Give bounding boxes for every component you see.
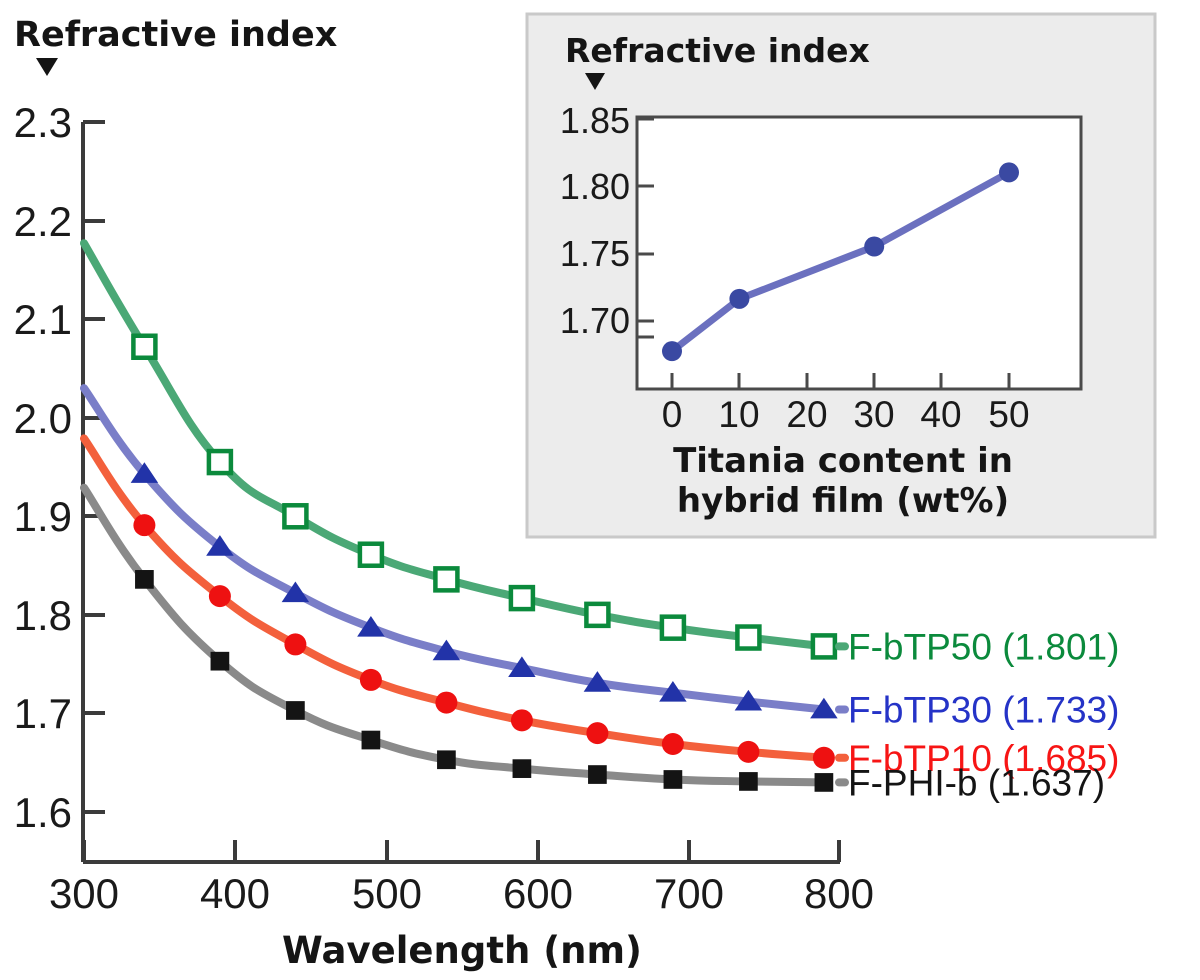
data-point-marker [813,747,835,769]
legend-item[interactable]: F-bTP30 (1.733) [839,689,1119,730]
data-point-marker [209,451,231,473]
legend-label: F-bTP50 (1.801) [848,626,1119,667]
inset-data-point-marker [729,289,749,309]
data-point-marker [586,722,608,744]
data-point-marker [133,336,155,358]
main-x-tick-label: 700 [654,870,724,917]
data-point-marker [739,772,758,791]
data-point-marker [284,505,306,527]
legend-item[interactable]: F-bTP50 (1.801) [839,626,1119,667]
down-triangle-axis-marker [36,58,58,76]
data-point-marker [211,652,230,671]
data-point-marker [511,587,533,609]
inset-x-axis-title-line2: hybrid film (wt%) [677,481,1009,521]
main-y-tick-label: 1.7 [14,690,72,737]
main-y-tick-label: 2.2 [14,198,72,245]
figure-root: Refractive index 2.3 2.2 2.1 [0,0,1200,980]
main-y-tick-label: 2.0 [14,395,72,442]
legend-label: F-bTP30 (1.733) [848,689,1119,730]
data-point-marker [737,627,759,649]
main-x-tick-label: 300 [49,870,119,917]
data-point-marker [209,585,231,607]
legend-label: F-PHI-b (1.637) [848,762,1105,803]
data-point-marker [135,570,154,589]
data-point-marker [360,669,382,691]
data-point-marker [133,514,155,536]
main-x-tick-label: 800 [804,870,874,917]
data-point-marker [662,733,684,755]
data-point-marker [588,765,607,784]
data-point-marker [511,709,533,731]
data-point-marker [286,701,305,720]
main-y-tick-label: 2.1 [14,296,72,343]
data-point-marker [664,770,683,789]
inset-data-point-marker [662,341,682,361]
data-point-marker [360,544,382,566]
inset-y-tick-label: 1.75 [560,233,630,274]
inset-x-tick-label: 0 [662,394,683,435]
inset-panel: Refractive index 1.85 1.80 1.75 1.70 [527,14,1155,537]
main-y-axis-title: Refractive index [14,15,338,55]
main-y-tick-labels: 2.3 2.2 2.1 2.0 1.9 1.8 1.7 1.6 [14,99,72,836]
inset-x-tick-label: 50 [988,394,1029,435]
inset-data-point-marker [999,162,1019,182]
main-x-tick-labels: 300 400 500 600 700 800 [49,870,874,917]
inset-y-tick-label: 1.70 [560,300,630,341]
main-y-tick-label: 1.8 [14,592,72,639]
inset-y-tick-label: 1.85 [560,100,630,141]
inset-y-axis-title: Refractive index [565,31,870,70]
data-point-marker [586,604,608,626]
data-point-marker [362,731,381,750]
inset-x-tick-label: 30 [853,394,894,435]
data-point-marker [435,568,457,590]
inset-x-tick-label: 10 [718,394,759,435]
data-point-marker [662,617,684,639]
data-point-marker [813,635,835,657]
main-x-axis-title: Wavelength (nm) [282,929,642,972]
chart-canvas: Refractive index 2.3 2.2 2.1 [0,0,1200,980]
inset-data-point-marker [864,237,884,257]
inset-y-tick-label: 1.80 [560,166,630,207]
main-y-tick-label: 2.3 [14,99,72,146]
data-point-marker [737,741,759,763]
main-x-tick-label: 400 [200,870,270,917]
data-point-marker [284,633,306,655]
inset-x-tick-label: 40 [920,394,961,435]
inset-x-tick-label: 20 [786,394,827,435]
main-x-tick-label: 500 [352,870,422,917]
data-point-marker [815,773,834,792]
data-point-marker [435,692,457,714]
main-x-ticks [84,840,839,862]
legend-item[interactable]: F-PHI-b (1.637) [839,762,1105,803]
chart-legend: F-bTP50 (1.801)F-bTP30 (1.733)F-bTP10 (1… [839,626,1119,803]
main-y-tick-label: 1.9 [14,493,72,540]
data-point-marker [437,750,456,769]
main-y-tick-label: 1.6 [14,789,72,836]
data-point-marker [513,759,532,778]
inset-x-axis-title-line1: Titania content in [673,441,1013,481]
main-x-tick-label: 600 [503,870,573,917]
